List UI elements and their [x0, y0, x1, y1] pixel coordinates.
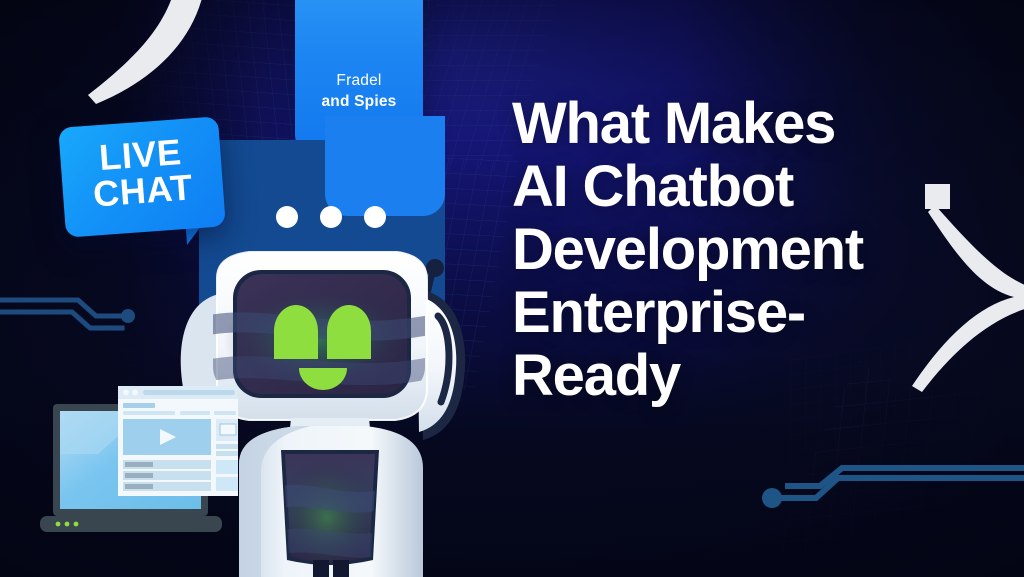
headline-line-2: AI Chatbot [512, 155, 982, 218]
browser-nav-item [214, 411, 236, 415]
laptop-scene [28, 376, 238, 554]
browser-sidebar [216, 419, 238, 491]
hero-banner: Fradel and Spies [0, 0, 1024, 577]
typing-dot [364, 206, 386, 228]
status-light [56, 522, 61, 527]
window-control-dot [123, 390, 129, 396]
browser-nav-item [180, 411, 210, 415]
browser-window [118, 386, 238, 496]
live-chat-badge[interactable]: LIVE CHAT [58, 116, 226, 237]
robot-chest-panel [273, 445, 391, 570]
headline-line-5: Ready [512, 344, 982, 407]
browser-nav-item [123, 411, 175, 415]
status-light [65, 522, 70, 527]
robot-face-screen [205, 270, 435, 398]
headline-line-1: What Makes [512, 92, 982, 155]
robot-leg-right [333, 560, 349, 577]
brand-card-line1: Fradel [336, 71, 381, 90]
robot-antenna-tip-right [426, 259, 444, 277]
status-light [74, 522, 79, 527]
robot-leg-left [313, 560, 329, 577]
top-left-swoosh-icon [88, 0, 205, 104]
browser-content-rows [123, 460, 211, 491]
browser-url-bar [143, 390, 235, 395]
brand-card-line2: and Spies [321, 92, 396, 112]
headline-line-4: Enterprise- [512, 281, 982, 344]
headline-line-3: Development [512, 218, 982, 281]
page-title: What Makes AI Chatbot Development Enterp… [512, 92, 982, 407]
typing-dot [320, 206, 342, 228]
window-control-dot [132, 390, 138, 396]
typing-dot [276, 206, 298, 228]
browser-nav-item [123, 403, 155, 408]
